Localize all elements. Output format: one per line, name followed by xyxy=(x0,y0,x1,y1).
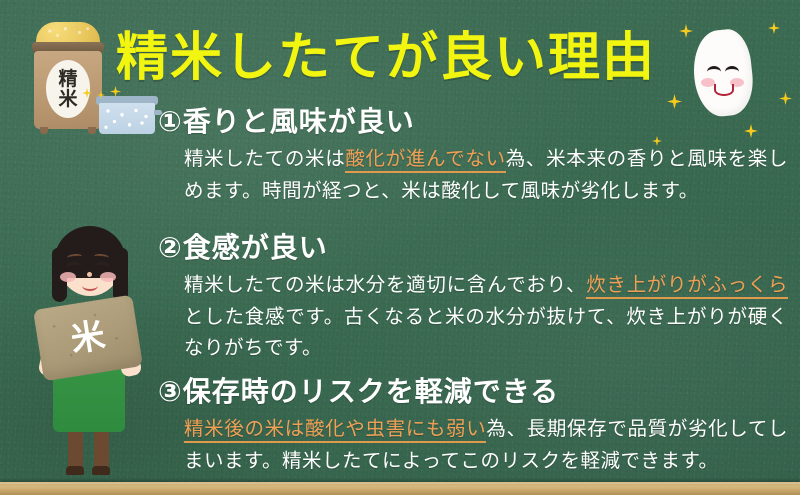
section-2-body: 精米したての米は水分を適切に含んでおり、炊き上がりがふっくらとした食感です。古く… xyxy=(184,269,788,364)
section-3: ③保存時のリスクを軽減できる 精米後の米は酸化や虫害にも弱い為、長期保存で品質が… xyxy=(158,376,788,476)
page-title: 精米したてが良い理由 xyxy=(116,32,656,84)
section-1-heading: ①香りと風味が良い xyxy=(158,106,788,138)
section-1-highlight: 酸化が進んでない xyxy=(345,147,505,173)
poster-text-layer: 精米したてが良い理由 ①香りと風味が良い 精米したての米は酸化が進んでない為、米… xyxy=(0,0,800,495)
section-1-body: 精米したての米は酸化が進んでない為、米本来の香りと風味を楽しめます。時間が経つと… xyxy=(184,143,788,206)
section-2: ②食感が良い 精米したての米は水分を適切に含んでおり、炊き上がりがふっくらとした… xyxy=(158,232,788,364)
chalkboard-poster: 精 米 米 xyxy=(0,0,800,495)
section-1-body-before: 精米したての米は xyxy=(184,147,345,170)
section-2-heading: ②食感が良い xyxy=(158,232,788,264)
section-2-highlight: 炊き上がりがふっくら xyxy=(586,273,788,299)
chalkboard-wooden-ledge xyxy=(0,482,800,495)
section-3-body: 精米後の米は酸化や虫害にも弱い為、長期保存で品質が劣化してしまいます。精米したて… xyxy=(184,413,788,476)
section-3-heading: ③保存時のリスクを軽減できる xyxy=(158,376,788,408)
section-3-highlight: 精米後の米は酸化や虫害にも弱い xyxy=(184,417,486,443)
section-2-body-before: 精米したての米は水分を適切に含んでおり、 xyxy=(184,273,586,296)
section-1: ①香りと風味が良い 精米したての米は酸化が進んでない為、米本来の香りと風味を楽し… xyxy=(158,106,788,206)
section-2-body-after: とした食感です。古くなると米の水分が抜けて、炊き上がりが硬くなりがちです。 xyxy=(184,305,788,360)
